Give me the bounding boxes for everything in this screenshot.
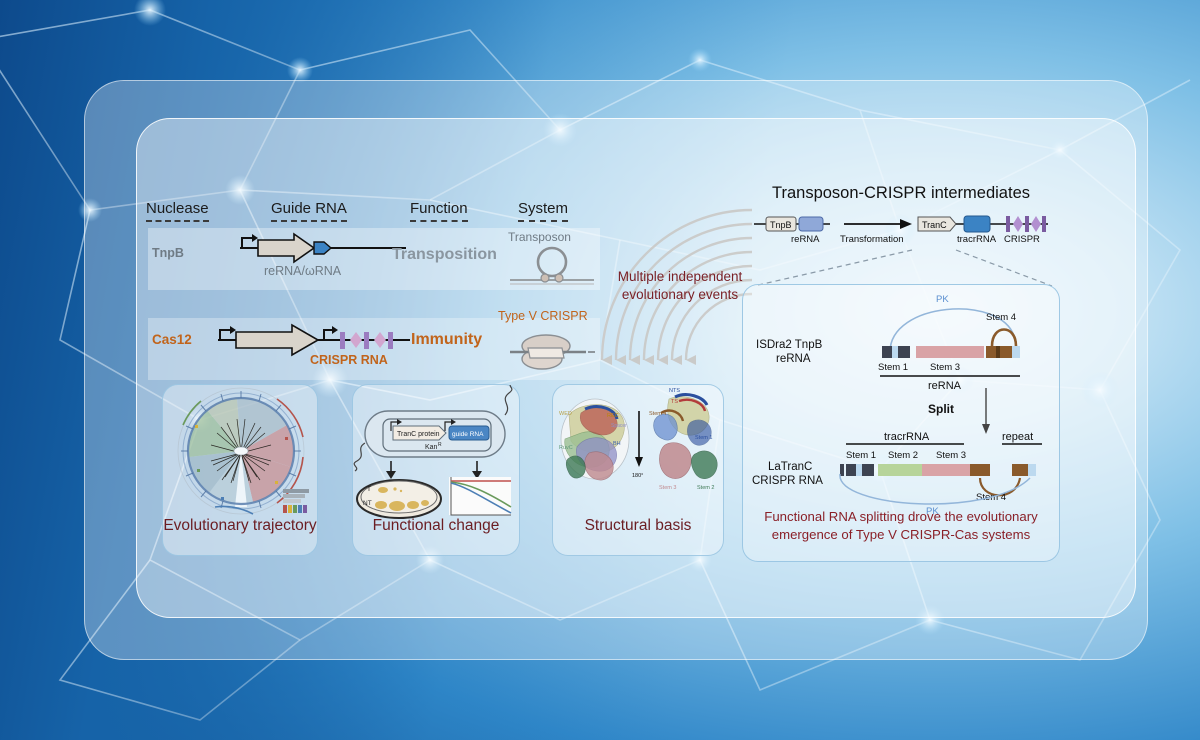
isdra2-tnpb-name-line2: reRNA xyxy=(776,353,811,365)
row-system-transposon-label: Transposon xyxy=(508,230,571,244)
transposon-icon xyxy=(506,244,598,288)
rerna-stem4-label: Stem 4 xyxy=(986,312,1016,323)
multiple-events-note: Multiple independent evolutionary events xyxy=(596,268,764,303)
kan-label: Kan xyxy=(425,444,438,451)
plate-label-nt: NT xyxy=(363,500,372,507)
label-stem4: Stem 4 xyxy=(649,411,666,417)
multiple-events-line1: Multiple independent xyxy=(596,268,764,286)
panel-structural-basis[interactable]: WED REC Spacer BH RuvC 180° xyxy=(552,384,724,556)
panel-evolutionary-trajectory[interactable]: Evolutionary trajectory xyxy=(162,384,318,556)
intermediate-crispr-label: CRISPR xyxy=(1004,234,1040,245)
figure-stage: Nuclease Guide RNA Function System TnpB … xyxy=(0,0,1200,740)
panel-functional-change[interactable]: TranC protein guide RNA Kan R T NT xyxy=(352,384,520,556)
label-wed: WED xyxy=(559,411,572,417)
functional-change-thumbnail: TranC protein guide RNA Kan R T NT xyxy=(353,385,521,521)
rerna-stem1-label: Stem 1 xyxy=(878,362,908,373)
intermediate-tracrrna-label: tracrRNA xyxy=(957,234,997,245)
column-header-function: Function xyxy=(410,200,468,222)
column-header-system: System xyxy=(518,200,568,222)
label-rec: REC xyxy=(607,413,619,419)
panel-caption-evolutionary-trajectory: Evolutionary trajectory xyxy=(163,517,317,535)
phylogenetic-tree-thumbnail xyxy=(163,385,319,521)
rerna-bracket-label: reRNA xyxy=(928,380,962,390)
column-header-guide-rna: Guide RNA xyxy=(271,200,347,222)
tranc-protein-label: TranC protein xyxy=(397,431,440,438)
crisprrna-stem2-label: Stem 2 xyxy=(888,450,918,461)
label-spacer: Spacer xyxy=(611,423,627,429)
right-section-title: Transposon-CRISPR intermediates xyxy=(742,184,1060,203)
repeat-bracket-label: repeat xyxy=(1002,431,1033,443)
type-v-crispr-effector-icon xyxy=(502,328,598,372)
plate-label-t: T xyxy=(367,486,371,493)
row-guide-rna-crispr-rna: CRISPR RNA xyxy=(310,353,388,367)
label-nts: NTS xyxy=(669,388,680,394)
rerna-construct-diagram: PK Stem 4 Stem 1 Stem 3 reRNA xyxy=(868,290,1048,390)
latranc-name-line1: LaTranC xyxy=(768,461,812,473)
row-nuclease-cas12: Cas12 xyxy=(152,332,192,347)
split-label: Split xyxy=(928,402,954,416)
rerna-pk-label: PK xyxy=(936,294,949,305)
label-rotation: 180° xyxy=(632,473,643,479)
right-caption-line1: Functional RNA splitting drove the evolu… xyxy=(742,508,1060,526)
label-stem2: Stem 2 xyxy=(697,485,714,491)
tracrrna-bracket-label: tracrRNA xyxy=(884,431,930,443)
crisprrna-stem3-label: Stem 3 xyxy=(936,450,966,461)
intermediate-tranc-label: TranC xyxy=(922,220,947,230)
panel-caption-functional-change: Functional change xyxy=(353,517,519,535)
label-stem1: Stem 1 xyxy=(695,435,712,441)
isdra2-tnpb-name-line1: ISDra2 TnpB xyxy=(756,339,822,351)
right-caption: Functional RNA splitting drove the evolu… xyxy=(742,508,1060,544)
crisprrna-stem1-label: Stem 1 xyxy=(846,450,876,461)
guide-rna-label: guide RNA xyxy=(452,431,484,438)
column-header-nuclease: Nuclease xyxy=(146,200,209,222)
label-ruvc: RuvC xyxy=(559,445,573,451)
svg-text:R: R xyxy=(438,442,442,448)
intermediate-rerna-label: reRNA xyxy=(791,234,820,245)
row-system-type-v-crispr-label: Type V CRISPR xyxy=(498,309,588,323)
intermediate-tnpb-label: TnpB xyxy=(770,220,792,230)
label-stem3: Stem 3 xyxy=(659,485,676,491)
right-caption-line2: emergence of Type V CRISPR-Cas systems xyxy=(742,526,1060,544)
row-guide-rna-rerna: reRNA/ωRNA xyxy=(264,264,341,278)
multiple-events-line2: evolutionary events xyxy=(596,286,764,304)
panel-caption-structural-basis: Structural basis xyxy=(553,517,723,535)
crispr-rna-construct-diagram: tracrRNA repeat Stem 1 Stem 2 Stem 3 Ste… xyxy=(830,424,1050,516)
row-function-transposition: Transposition xyxy=(392,246,497,264)
latranc-name-line2: CRISPR RNA xyxy=(752,475,823,487)
label-bh: BH xyxy=(613,441,621,447)
rerna-stem3-label: Stem 3 xyxy=(930,362,960,373)
row-function-immunity: Immunity xyxy=(411,331,482,349)
cryoem-structure-thumbnail: WED REC Spacer BH RuvC 180° xyxy=(553,385,725,521)
label-ts: TS xyxy=(671,399,678,405)
intermediate-transformation-label: Transformation xyxy=(840,234,904,245)
row-nuclease-tnpb: TnpB xyxy=(152,246,184,260)
